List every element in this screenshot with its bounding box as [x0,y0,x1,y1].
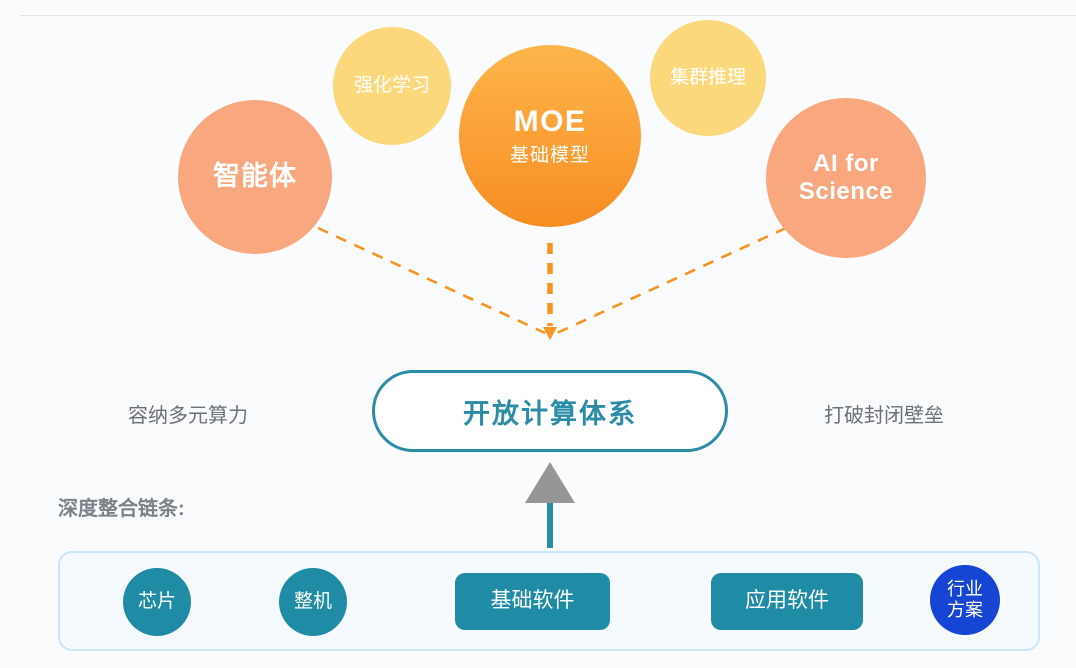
caption-left: 容纳多元算力 [128,399,248,428]
arrow-head [525,462,575,503]
chain-node-application-software[interactable]: 应用软件 [711,573,863,630]
chain-node-application-software-label: 应用软件 [745,589,829,613]
bubble-agent[interactable]: 智能体 [178,100,332,254]
bubble-ai-for-science-line1: AI for [813,150,879,178]
arrow-stem [547,500,553,548]
bubble-reinforcement-learning-label: 强化学习 [354,75,430,97]
chain-node-machine-label: 整机 [294,591,332,613]
chain-node-industry-solution-line1: 行业 [947,579,983,600]
bubble-agent-label: 智能体 [213,161,297,193]
bubble-cluster-inference-label: 集群推理 [670,67,746,89]
bubble-ai-for-science[interactable]: AI for Science [766,98,926,258]
chain-node-industry-solution-line2: 方案 [947,600,983,621]
diagram-canvas: 智能体 强化学习 MOE 基础模型 集群推理 AI for Science 容纳… [0,0,1076,668]
chain-node-chip-label: 芯片 [138,591,176,613]
bubble-moe-subtitle: 基础模型 [510,145,590,167]
bubble-moe[interactable]: MOE 基础模型 [459,45,641,227]
dashed-line-agent [318,228,545,333]
caption-right: 打破封闭壁垒 [824,399,944,428]
open-computing-pill[interactable]: 开放计算体系 [372,370,728,452]
chain-node-chip[interactable]: 芯片 [123,568,191,636]
dashed-arrowhead [543,327,557,340]
bubble-moe-title: MOE [514,104,587,139]
open-computing-pill-label: 开放计算体系 [463,392,637,431]
dashed-line-ai4s [557,228,786,333]
chain-node-base-software-label: 基础软件 [491,589,575,613]
chain-section-label: 深度整合链条: [58,492,185,521]
bubble-cluster-inference[interactable]: 集群推理 [650,20,766,136]
top-divider [20,15,1076,16]
chain-node-machine[interactable]: 整机 [279,568,347,636]
bubble-reinforcement-learning[interactable]: 强化学习 [333,27,451,145]
bubble-ai-for-science-line2: Science [799,178,893,206]
chain-node-industry-solution[interactable]: 行业 方案 [930,565,1000,635]
chain-node-base-software[interactable]: 基础软件 [455,573,610,630]
